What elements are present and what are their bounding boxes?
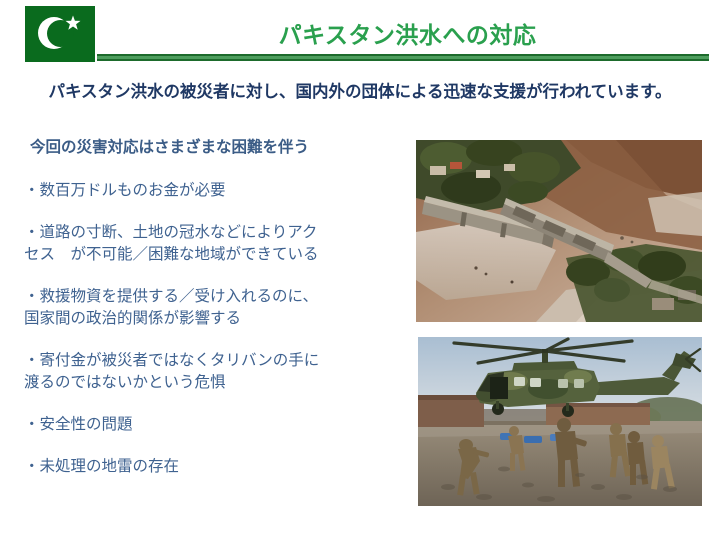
helicopter-relief-photo: [418, 337, 702, 506]
bullet-item-4: ・寄付金が被災者ではなくタリバンの手に 渡るのではないかという危惧: [24, 350, 406, 394]
pakistan-flag-icon: [25, 6, 95, 62]
bullet-item-2: ・道路の寸断、土地の冠水などによりアク セス が不可能／困難な地域ができている: [24, 222, 406, 266]
body-content: 今回の災害対応はさまざまな困難を伴う ・数百万ドルものお金が必要 ・道路の寸断、…: [24, 138, 406, 498]
divider-line-bottom: [97, 59, 709, 61]
slide: パキスタン洪水への対応 パキスタン洪水の被災者に対し、国内外の団体による迅速な支…: [0, 0, 720, 540]
header-divider: [97, 54, 709, 63]
page-title: パキスタン洪水への対応: [110, 16, 705, 50]
bullet-item-6: ・未処理の地雷の存在: [24, 456, 406, 478]
body-heading: 今回の災害対応はさまざまな困難を伴う: [30, 138, 406, 157]
bullet-item-1: ・数百万ドルものお金が必要: [24, 180, 406, 202]
bullet-item-5: ・安全性の問題: [24, 414, 406, 436]
slide-header: パキスタン洪水への対応: [0, 0, 720, 70]
flood-bridge-photo: [416, 140, 702, 322]
subtitle-banner: パキスタン洪水の被災者に対し、国内外の団体による迅速な支援が行われています。: [0, 78, 720, 102]
bullet-item-3: ・救援物資を提供する／受け入れるのに、 国家間の政治的関係が影響する: [24, 286, 406, 330]
